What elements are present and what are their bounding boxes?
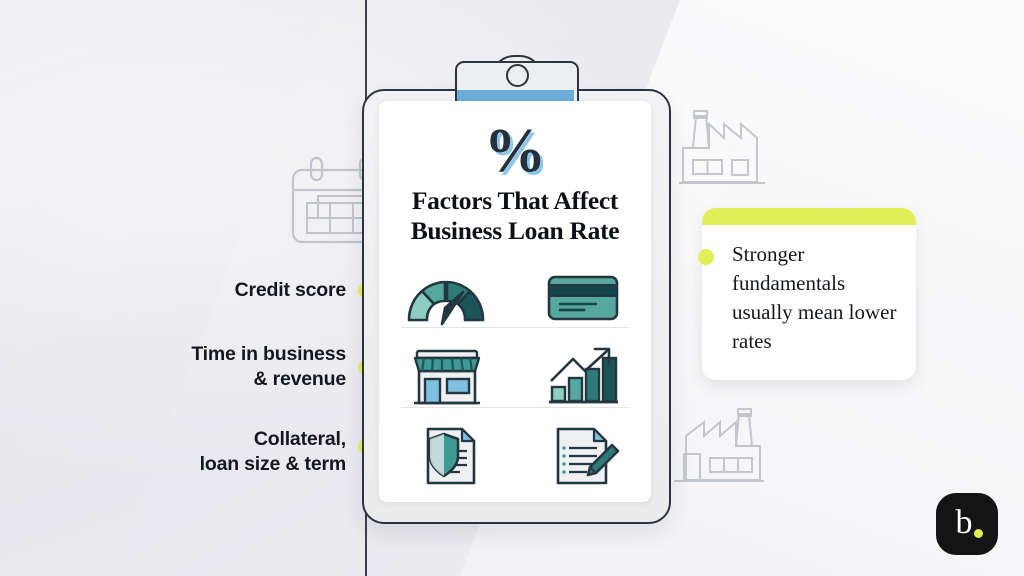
icon-cell (379, 419, 515, 493)
factor-label-credit-score: Credit score (235, 278, 346, 303)
storefront-icon (408, 345, 486, 407)
gauge-icon (404, 270, 490, 326)
icon-cell (515, 419, 651, 493)
infographic-canvas: Credit score Time in business & revenue … (0, 0, 1024, 576)
factor-label-line-2: & revenue (191, 367, 346, 392)
page-title-line-2: Business Loan Rate (379, 216, 651, 246)
factory-outline-decoration-top (679, 108, 769, 190)
callout-text: Stronger fundamentals usually mean lower… (732, 240, 904, 356)
growth-bar-chart-icon (547, 345, 619, 407)
brand-logo: b (936, 493, 998, 555)
page-title-line-1: Factors That Affect (379, 186, 651, 216)
brand-logo-letter: b (956, 506, 973, 540)
factor-label-collateral: Collateral, loan size & term (200, 427, 346, 477)
icon-cell (515, 261, 651, 335)
percent-symbol: % (379, 120, 651, 182)
factor-label-time-in-business: Time in business & revenue (191, 342, 346, 392)
icon-row-credit-score (379, 261, 651, 335)
credit-card-icon (546, 272, 620, 324)
clipboard-clip-hole (506, 64, 529, 87)
icon-cell (515, 339, 651, 413)
icon-row-divider (401, 407, 629, 408)
icon-row-divider (401, 327, 629, 328)
clipboard-paper: % Factors That Affect Business Loan Rate (379, 101, 651, 502)
callout-bullet-dot (698, 249, 714, 265)
callout-accent-bar (702, 208, 916, 225)
document-pencil-icon (546, 425, 620, 487)
shield-document-icon (410, 425, 484, 487)
callout-card: Stronger fundamentals usually mean lower… (702, 208, 916, 380)
brand-logo-dot (974, 529, 983, 538)
factor-label-line-2: loan size & term (200, 452, 346, 477)
icon-cell (379, 261, 515, 335)
icon-row-collateral (379, 419, 651, 493)
icon-cell (379, 339, 515, 413)
factor-label-line-1: Time in business (191, 342, 346, 367)
factory-outline-decoration-bottom (670, 408, 764, 488)
icon-row-time-in-business (379, 339, 651, 413)
page-title: Factors That Affect Business Loan Rate (379, 186, 651, 245)
factor-label-line-1: Collateral, (200, 427, 346, 452)
factor-label-line-1: Credit score (235, 278, 346, 303)
